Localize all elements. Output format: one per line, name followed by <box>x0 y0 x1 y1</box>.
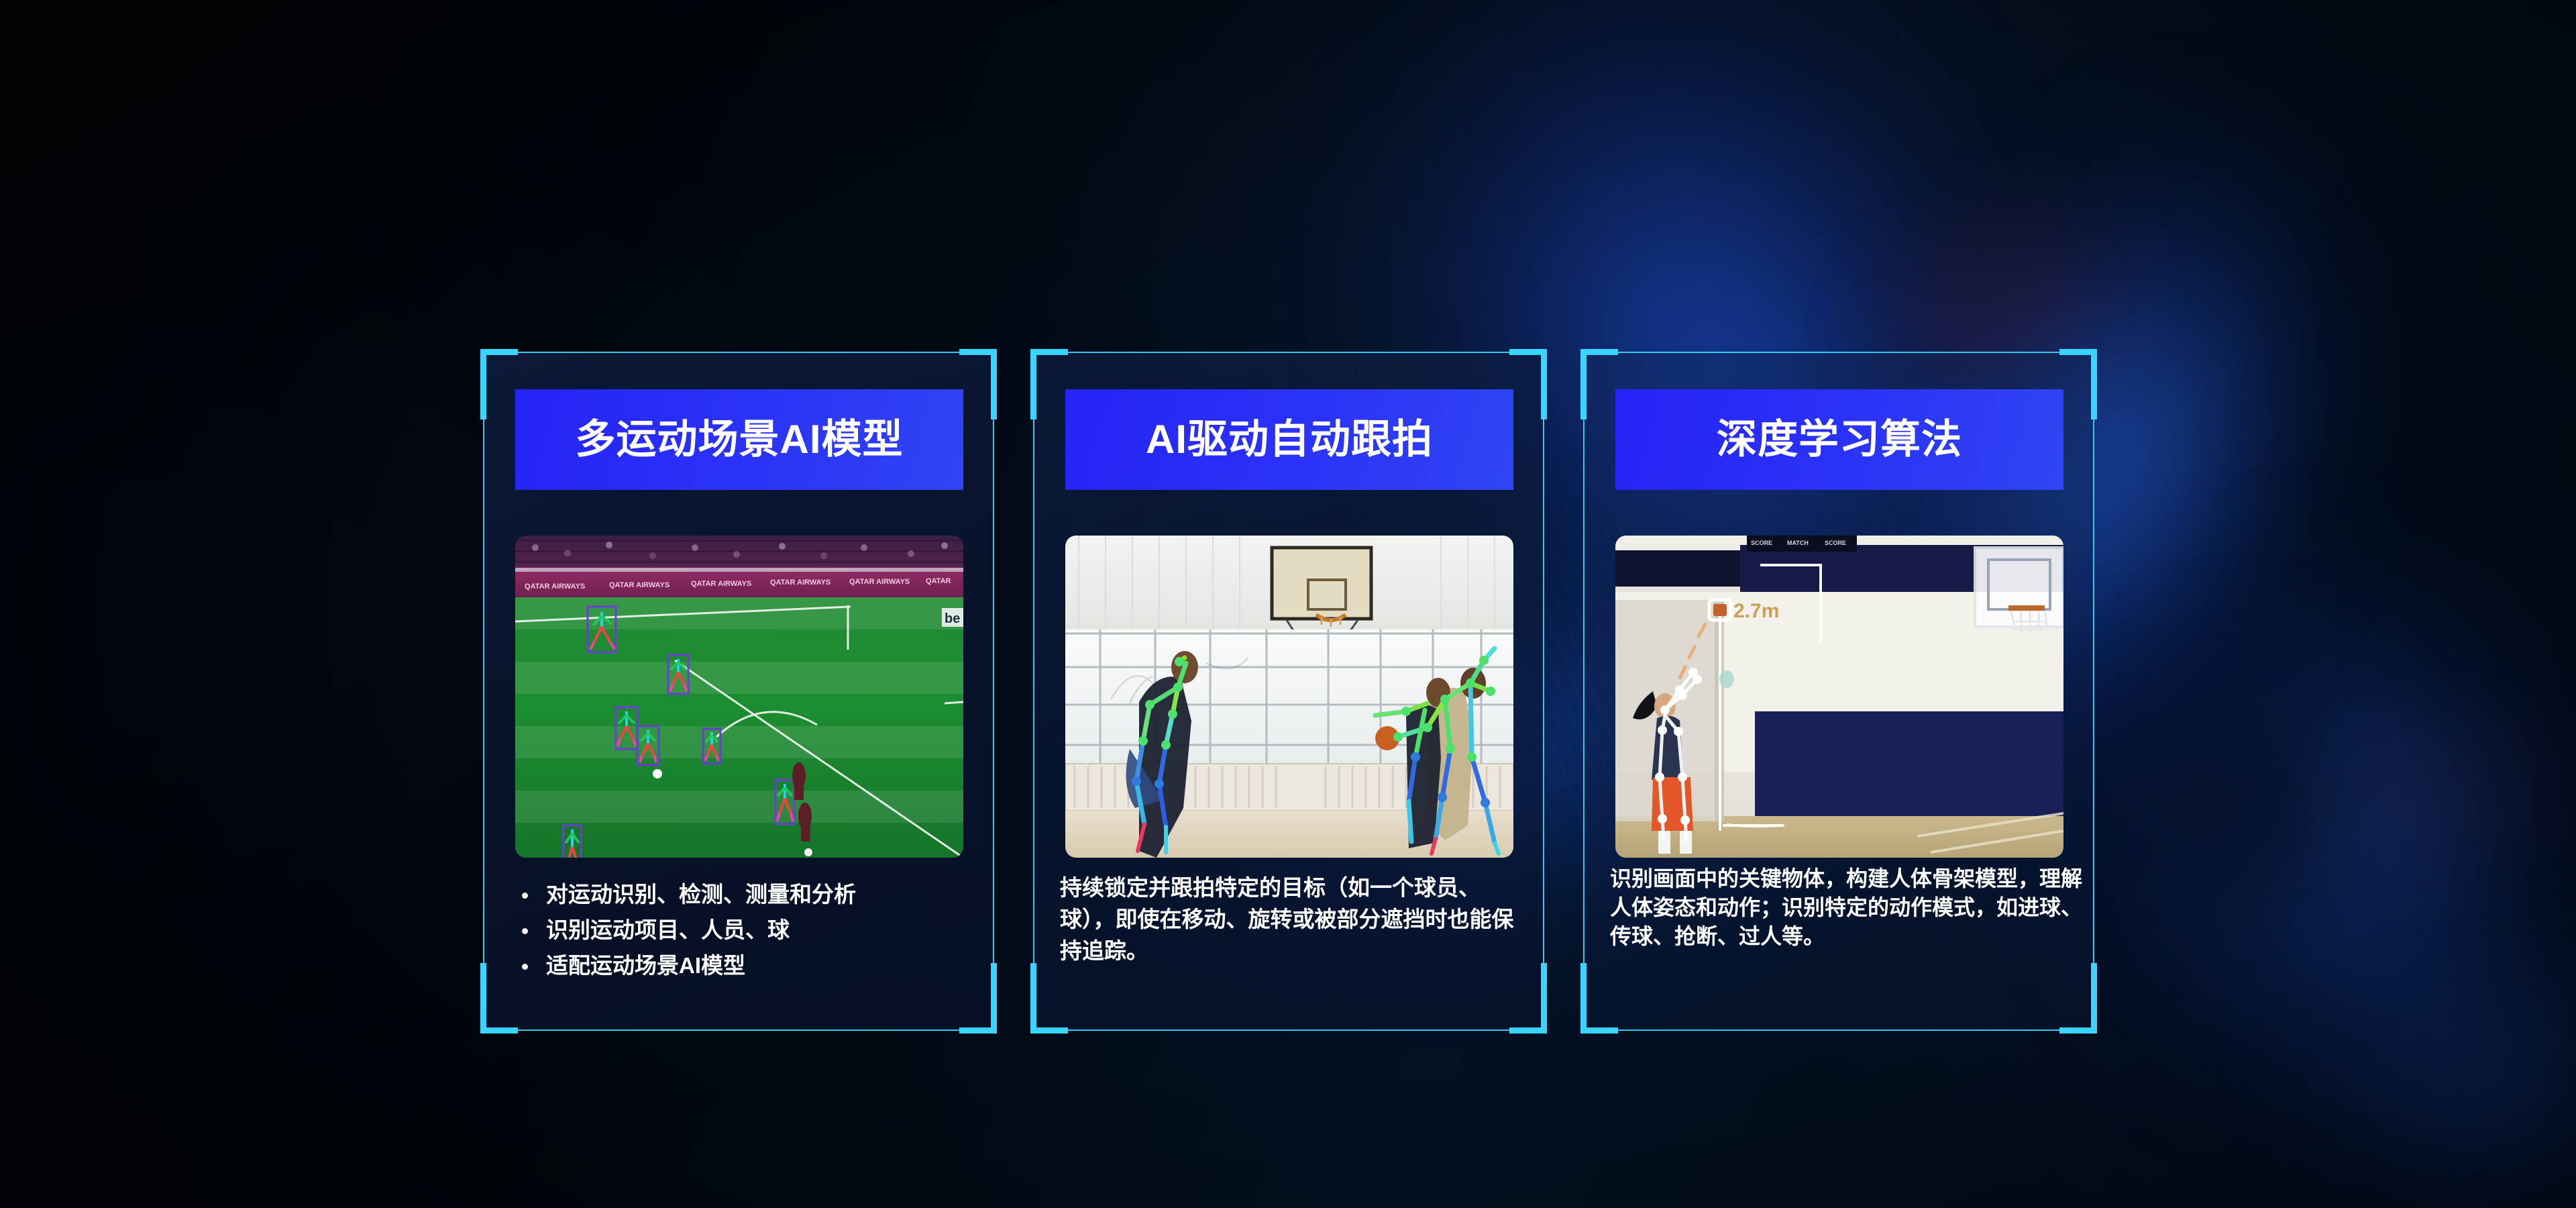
card-header-banner: 深度学习算法 <box>1615 389 2063 490</box>
card-frame-top <box>1580 352 2097 353</box>
card-title: 深度学习算法 <box>1717 419 1962 460</box>
svg-text:be: be <box>945 611 960 626</box>
list-item: 适配运动场景AI模型 <box>514 950 970 982</box>
card-body-text: 对运动识别、检测、测量和分析 识别运动项目、人员、球 适配运动场景AI模型 <box>514 879 970 986</box>
card-frame-left <box>483 352 484 1031</box>
basketball-shot-measurement-image: SCOREMATCHSCORE <box>1615 536 2063 858</box>
list-item: 识别运动项目、人员、球 <box>514 915 970 946</box>
feature-card-row: 多运动场景AI模型 <box>480 349 2097 1040</box>
card-description: 持续锁定并跟拍特定的目标（如一个球员、球），即使在移动、旋转或被部分遮挡时也能保… <box>1060 872 1528 967</box>
card-frame-right <box>1543 352 1544 1031</box>
feature-card-deep-learning-algorithm[interactable]: 深度学习算法 SCOREMATCHSCORE <box>1580 349 2097 1034</box>
measurement-label: 2.7m <box>1733 600 1779 622</box>
card-frame-right <box>993 352 994 1031</box>
feature-card-ai-auto-tracking[interactable]: AI驱动自动跟拍 <box>1030 349 1547 1034</box>
card-frame-left <box>1033 352 1034 1031</box>
soccer-scene-illustration: QATAR AIRWAYS QATAR AIRWAYS QATAR AIRWAY… <box>515 536 963 858</box>
card-body-text: 持续锁定并跟拍特定的目标（如一个球员、球），即使在移动、旋转或被部分遮挡时也能保… <box>1060 872 1528 967</box>
svg-text:QATAR AIRWAYS: QATAR AIRWAYS <box>691 580 751 588</box>
card-frame-bottom <box>1580 1029 2097 1031</box>
list-item: 对运动识别、检测、测量和分析 <box>514 879 970 911</box>
soccer-pose-detection-image: QATAR AIRWAYS QATAR AIRWAYS QATAR AIRWAY… <box>515 536 963 858</box>
svg-text:SCORE: SCORE <box>1751 540 1772 546</box>
card-title: 多运动场景AI模型 <box>576 419 904 460</box>
card-header-banner: AI驱动自动跟拍 <box>1065 389 1513 490</box>
svg-text:QATAR AIRWAYS: QATAR AIRWAYS <box>609 581 669 589</box>
svg-text:QATAR AIRWAYS: QATAR AIRWAYS <box>525 583 585 591</box>
svg-text:QATAR: QATAR <box>926 577 951 585</box>
svg-text:MATCH: MATCH <box>1787 540 1809 546</box>
card-frame-top <box>480 352 997 353</box>
feature-card-multi-sport-ai-model[interactable]: 多运动场景AI模型 <box>480 349 997 1034</box>
card-header-banner: 多运动场景AI模型 <box>515 389 963 490</box>
card-frame-bottom <box>480 1029 997 1031</box>
svg-text:QATAR AIRWAYS: QATAR AIRWAYS <box>770 578 830 587</box>
card-description: 识别画面中的关键物体，构建人体骨架模型，理解人体姿态和动作；识别特定的动作模式，… <box>1610 864 2082 951</box>
svg-text:QATAR AIRWAYS: QATAR AIRWAYS <box>849 578 910 586</box>
card-frame-top <box>1030 352 1547 353</box>
basketball-gym-pose-tracking-image <box>1065 536 1513 858</box>
card-frame-left <box>1583 352 1585 1031</box>
feature-bullet-list: 对运动识别、检测、测量和分析 识别运动项目、人员、球 适配运动场景AI模型 <box>514 879 970 982</box>
svg-text:SCORE: SCORE <box>1825 540 1846 546</box>
card-frame-bottom <box>1030 1029 1547 1031</box>
shot-measurement-illustration: SCOREMATCHSCORE <box>1615 536 2063 858</box>
card-title: AI驱动自动跟拍 <box>1146 419 1433 460</box>
card-frame-right <box>2093 352 2094 1031</box>
gym-scene-illustration <box>1065 536 1513 858</box>
card-body-text: 识别画面中的关键物体，构建人体骨架模型，理解人体姿态和动作；识别特定的动作模式，… <box>1610 864 2082 951</box>
